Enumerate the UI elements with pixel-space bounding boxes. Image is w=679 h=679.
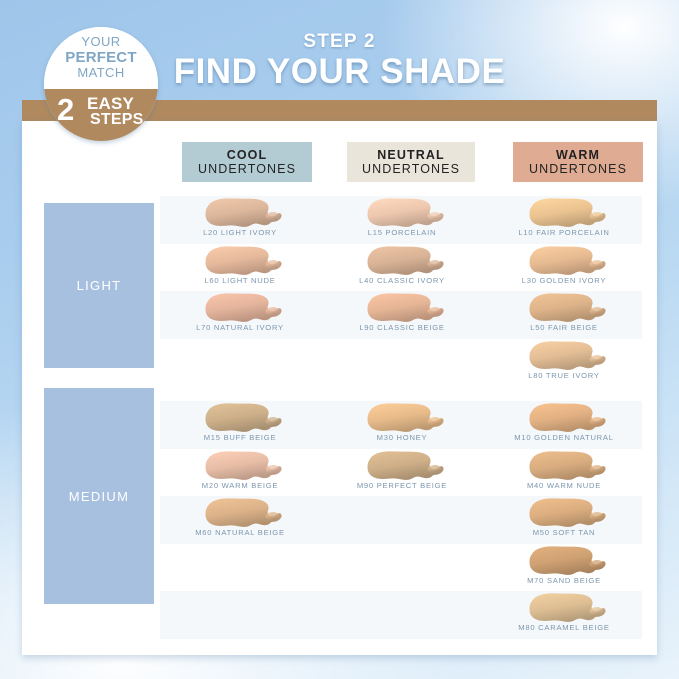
shade-swatch [528,497,608,528]
shade-swatch [204,245,284,276]
shade-swatch [366,197,446,228]
group-spacer [160,386,642,401]
group-label-medium: MEDIUM [44,388,154,604]
shade-swatch [528,340,608,371]
badge-easy-label: EASY [87,95,134,112]
column-header-neutral-title: NEUTRAL [377,148,444,162]
shade-cell[interactable]: L80 TRUE IVORY [484,339,644,387]
column-header-neutral-subtitle: UNDERTONES [362,162,460,176]
shade-row: M15 BUFF BEIGE M30 HONEY M10 GOLDEN NATU… [160,401,642,449]
shade-cell[interactable]: M70 SAND BEIGE [484,544,644,592]
shade-name-label: L10 FAIR PORCELAIN [484,228,644,237]
shade-name-label: M40 WARM NUDE [484,481,644,490]
shade-name-label: M60 NATURAL BEIGE [160,528,320,537]
group-label-light: LIGHT [44,203,154,368]
shade-swatch [528,450,608,481]
shade-cell[interactable]: L90 CLASSIC BEIGE [322,291,482,339]
shade-name-label: L20 LIGHT IVORY [160,228,320,237]
column-header-cool: COOL UNDERTONES [182,142,312,182]
shade-swatch [204,292,284,323]
shade-row: L20 LIGHT IVORY L15 PORCELAIN L10 FAIR P… [160,196,642,244]
shade-swatch [528,292,608,323]
shade-cell-empty [322,339,482,387]
column-header-cool-subtitle: UNDERTONES [198,162,296,176]
shade-name-label: M80 CARAMEL BEIGE [484,623,644,632]
shade-cell[interactable]: L15 PORCELAIN [322,196,482,244]
shade-swatch [528,592,608,623]
shade-cell[interactable]: L60 LIGHT NUDE [160,244,320,292]
column-header-neutral: NEUTRAL UNDERTONES [347,142,475,182]
shade-name-label: M20 WARM BEIGE [160,481,320,490]
shade-swatch [204,197,284,228]
badge-line-perfect: PERFECT [65,50,136,67]
shade-name-label: L50 FAIR BEIGE [484,323,644,332]
shade-cell[interactable]: L40 CLASSIC IVORY [322,244,482,292]
shade-cell-empty [160,591,320,639]
badge-line-your: YOUR [81,35,120,50]
shade-cell[interactable]: L70 NATURAL IVORY [160,291,320,339]
badge-steps-label: STEPS [90,112,143,128]
shade-row: L70 NATURAL IVORY L90 CLASSIC BEIGE L50 … [160,291,642,339]
shade-name-label: M50 SOFT TAN [484,528,644,537]
shade-row: M60 NATURAL BEIGE M50 SOFT TAN [160,496,642,544]
shade-name-label: L90 CLASSIC BEIGE [322,323,482,332]
shade-swatch [528,545,608,576]
shade-swatch [528,245,608,276]
shade-cell[interactable]: L10 FAIR PORCELAIN [484,196,644,244]
shade-name-label: L15 PORCELAIN [322,228,482,237]
shade-name-label: M70 SAND BEIGE [484,576,644,585]
column-header-cool-title: COOL [227,148,268,162]
shade-cell[interactable]: L50 FAIR BEIGE [484,291,644,339]
shade-swatch [204,402,284,433]
badge-top-half: YOUR PERFECT MATCH [44,27,158,89]
shade-row: L80 TRUE IVORY [160,339,642,387]
shade-name-label: L40 CLASSIC IVORY [322,276,482,285]
shade-cell[interactable]: M40 WARM NUDE [484,449,644,497]
shade-cell[interactable]: M10 GOLDEN NATURAL [484,401,644,449]
shade-cell[interactable]: M50 SOFT TAN [484,496,644,544]
shade-name-label: M30 HONEY [322,433,482,442]
shade-row: M80 CARAMEL BEIGE [160,591,642,639]
shade-swatch [528,197,608,228]
badge-step-number: 2 [57,94,74,125]
badge-line-match: MATCH [77,66,124,81]
column-header-warm: WARM UNDERTONES [513,142,643,182]
shade-swatch [204,450,284,481]
shade-swatch [366,450,446,481]
shade-name-label: M90 PERFECT BEIGE [322,481,482,490]
shade-cell[interactable]: M90 PERFECT BEIGE [322,449,482,497]
shade-swatch [366,292,446,323]
shade-swatch [528,402,608,433]
shade-cell[interactable]: M60 NATURAL BEIGE [160,496,320,544]
shade-name-label: M10 GOLDEN NATURAL [484,433,644,442]
perfect-match-badge: YOUR PERFECT MATCH 2 EASY STEPS [44,27,158,141]
shade-swatch [366,245,446,276]
shade-cell[interactable]: L30 GOLDEN IVORY [484,244,644,292]
shade-cell[interactable]: L20 LIGHT IVORY [160,196,320,244]
shade-name-label: L60 LIGHT NUDE [160,276,320,285]
shade-row: M20 WARM BEIGE M90 PERFECT BEIGE M40 WAR… [160,449,642,497]
shade-cell[interactable]: M30 HONEY [322,401,482,449]
shade-name-label: L30 GOLDEN IVORY [484,276,644,285]
shade-row: M70 SAND BEIGE [160,544,642,592]
shade-cell[interactable]: M15 BUFF BEIGE [160,401,320,449]
column-header-warm-title: WARM [556,148,600,162]
badge-bottom-half: 2 EASY STEPS [44,89,158,141]
shade-name-label: L70 NATURAL IVORY [160,323,320,332]
shade-name-label: L80 TRUE IVORY [484,371,644,380]
shade-cell-empty [322,544,482,592]
shade-cell[interactable]: M80 CARAMEL BEIGE [484,591,644,639]
shade-cell[interactable]: M20 WARM BEIGE [160,449,320,497]
shade-swatch [204,497,284,528]
shade-grid: L20 LIGHT IVORY L15 PORCELAIN L10 FAIR P… [160,196,642,639]
column-header-warm-subtitle: UNDERTONES [529,162,627,176]
shade-row: L60 LIGHT NUDE L40 CLASSIC IVORY L30 GOL… [160,244,642,292]
shade-cell-empty [322,591,482,639]
shade-cell-empty [160,339,320,387]
shade-swatch [366,402,446,433]
shade-cell-empty [160,544,320,592]
shade-name-label: M15 BUFF BEIGE [160,433,320,442]
shade-cell-empty [322,496,482,544]
